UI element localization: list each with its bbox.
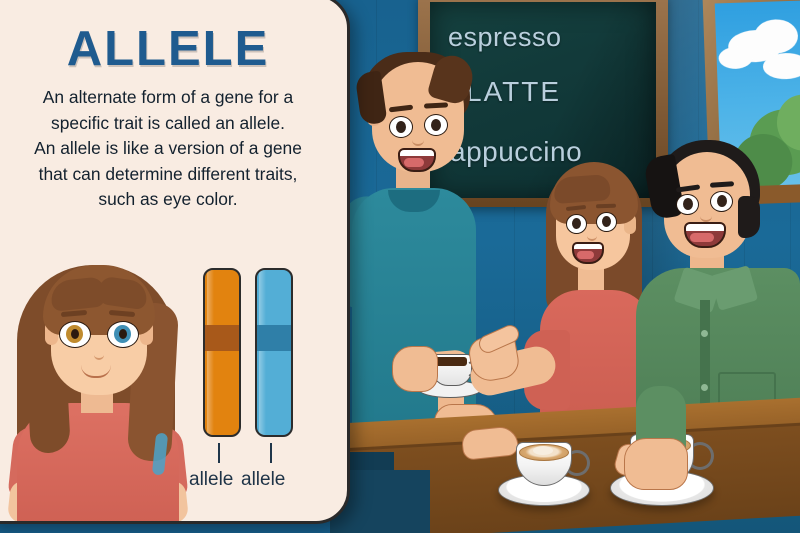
chalkboard-line-latte: LATTE (466, 76, 561, 108)
bar-highlight (207, 270, 214, 435)
girl-tongue (577, 251, 594, 259)
man-shirt-button (701, 384, 708, 391)
card-body-line: An alternate form of a gene for a (5, 85, 331, 111)
bar-highlight (259, 270, 266, 435)
held-coffee-liquid (435, 357, 467, 366)
illustration-pupil (119, 329, 127, 339)
illustration-canvas: espresso LATTE appuccino (0, 0, 800, 533)
barista-hand (392, 346, 438, 392)
barista-pupil (431, 119, 441, 131)
man-hand (624, 438, 688, 490)
barista-pupil (396, 121, 406, 133)
chalkboard-line-espresso: espresso (448, 22, 562, 53)
girl-hair-bang (553, 174, 611, 204)
allele-label-left: allele (189, 469, 233, 491)
allele-label-right: allele (241, 469, 285, 491)
card-body-line: specific trait is called an allele. (5, 111, 331, 137)
allele-leader-line-right (270, 443, 272, 463)
barista-tongue (404, 158, 424, 167)
illustration-pupil (71, 329, 79, 339)
girl-eyebrow (596, 204, 616, 209)
chromosome-bar-orange (203, 268, 241, 437)
allele-band-blue (257, 325, 291, 351)
card-body-line: that can determine different traits, (5, 162, 331, 188)
resting-hand (461, 425, 520, 461)
allele-band-orange (205, 325, 239, 351)
card-title: ALLELE (3, 21, 333, 77)
man-tongue (690, 233, 714, 242)
man-sideburn (738, 196, 760, 238)
chromosome-bar-blue (255, 268, 293, 437)
card-body-text: An alternate form of a gene for a specif… (5, 85, 331, 213)
allele-leader-line-left (218, 443, 220, 463)
man-pupil (717, 195, 727, 207)
man-pupil (683, 198, 693, 210)
girl-pupil (572, 218, 581, 229)
cloud-icon (753, 19, 798, 55)
allele-info-card: ALLELE An alternate form of a gene for a… (0, 0, 350, 524)
cloud-icon (718, 46, 753, 69)
latte-art (533, 446, 553, 455)
chalkboard-line-cappuccino: appuccino (450, 136, 582, 168)
card-body-line: such as eye color. (5, 187, 331, 213)
girl-pupil (602, 216, 611, 227)
card-body-line: An allele is like a version of a gene (5, 136, 331, 162)
man-shirt-button (701, 330, 708, 337)
